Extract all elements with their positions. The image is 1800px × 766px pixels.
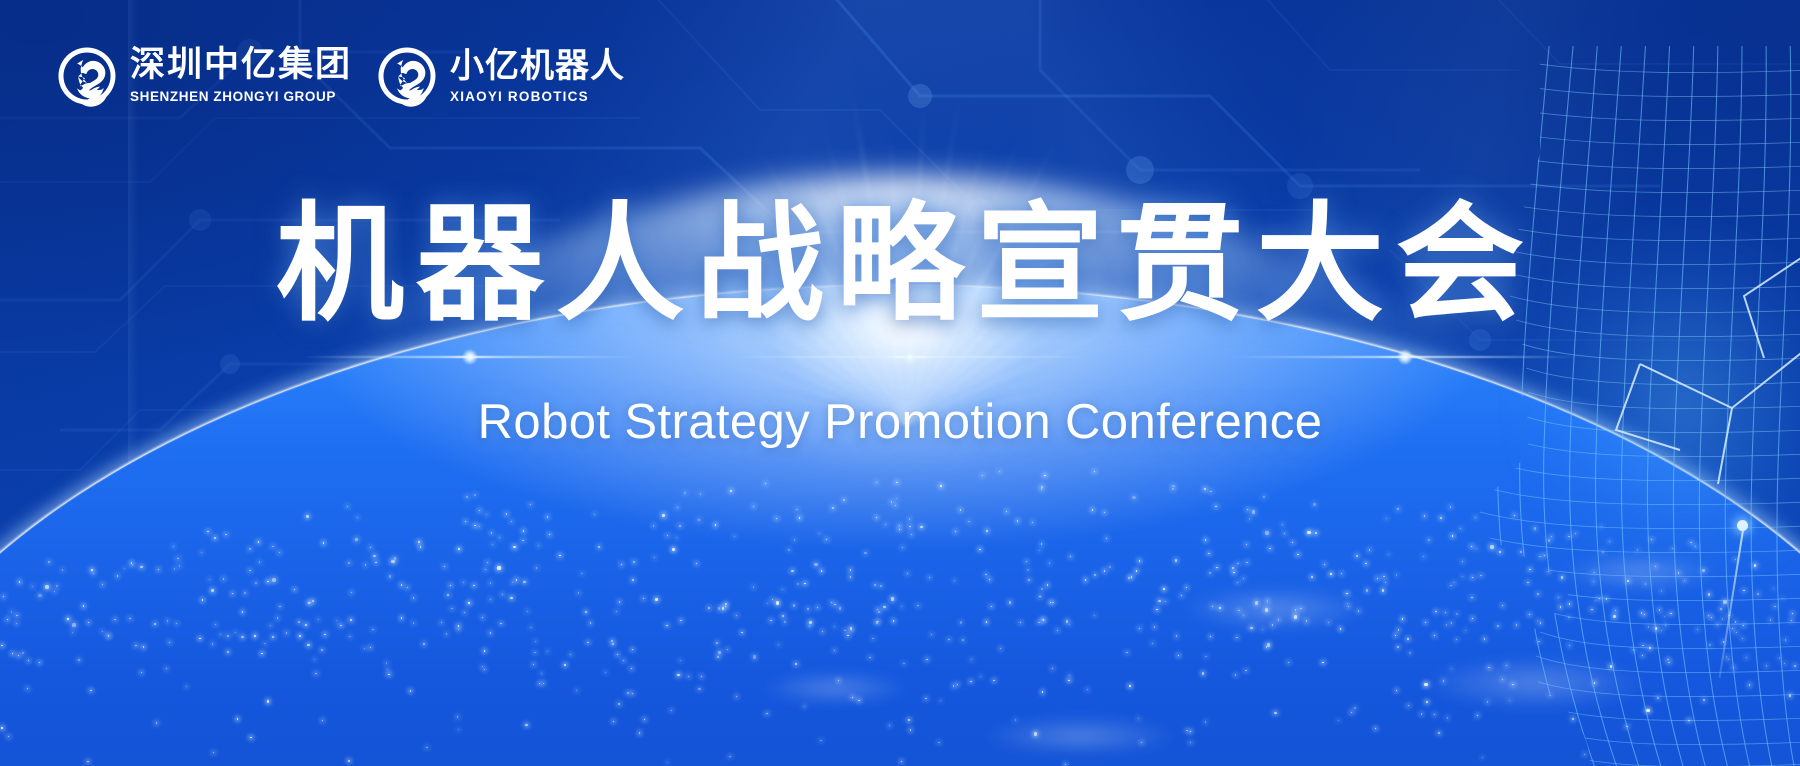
zhongyi-wordmark: 深圳中亿集团 SHENZHEN ZHONGYI GROUP [130,48,352,104]
subtitle-en: Robot Strategy Promotion Conference [0,394,1800,450]
light-streak-icon [300,356,640,358]
light-streak-icon [1230,356,1580,358]
logo-lockup: 深圳中亿集团 SHENZHEN ZHONGYI GROUP 小亿机器人 XIAO… [56,45,625,107]
logo-cn-text: 小亿机器人 [450,49,625,83]
event-banner: 深圳中亿集团 SHENZHEN ZHONGYI GROUP 小亿机器人 XIAO… [0,0,1800,766]
logo-en-text: XIAOYI ROBOTICS [450,90,625,104]
logo-xiaoyi-robotics[interactable]: 小亿机器人 XIAOYI ROBOTICS [376,45,625,107]
xiaoyi-wordmark: 小亿机器人 XIAOYI ROBOTICS [450,49,625,104]
light-streak-row [0,338,1800,384]
logo-cn-text: 深圳中亿集团 [130,48,352,83]
light-streak-icon [730,356,1090,358]
logo-shenzhen-zhongyi-group[interactable]: 深圳中亿集团 SHENZHEN ZHONGYI GROUP [56,45,352,107]
title-block: 机器人战略宣贯大会 Robot Strategy Promotion Confe… [0,196,1800,450]
main-title-cn: 机器人战略宣贯大会 [0,196,1800,334]
zhongyi-emblem-icon [56,45,118,107]
logo-en-text: SHENZHEN ZHONGYI GROUP [130,90,352,104]
xiaoyi-emblem-icon [376,45,438,107]
